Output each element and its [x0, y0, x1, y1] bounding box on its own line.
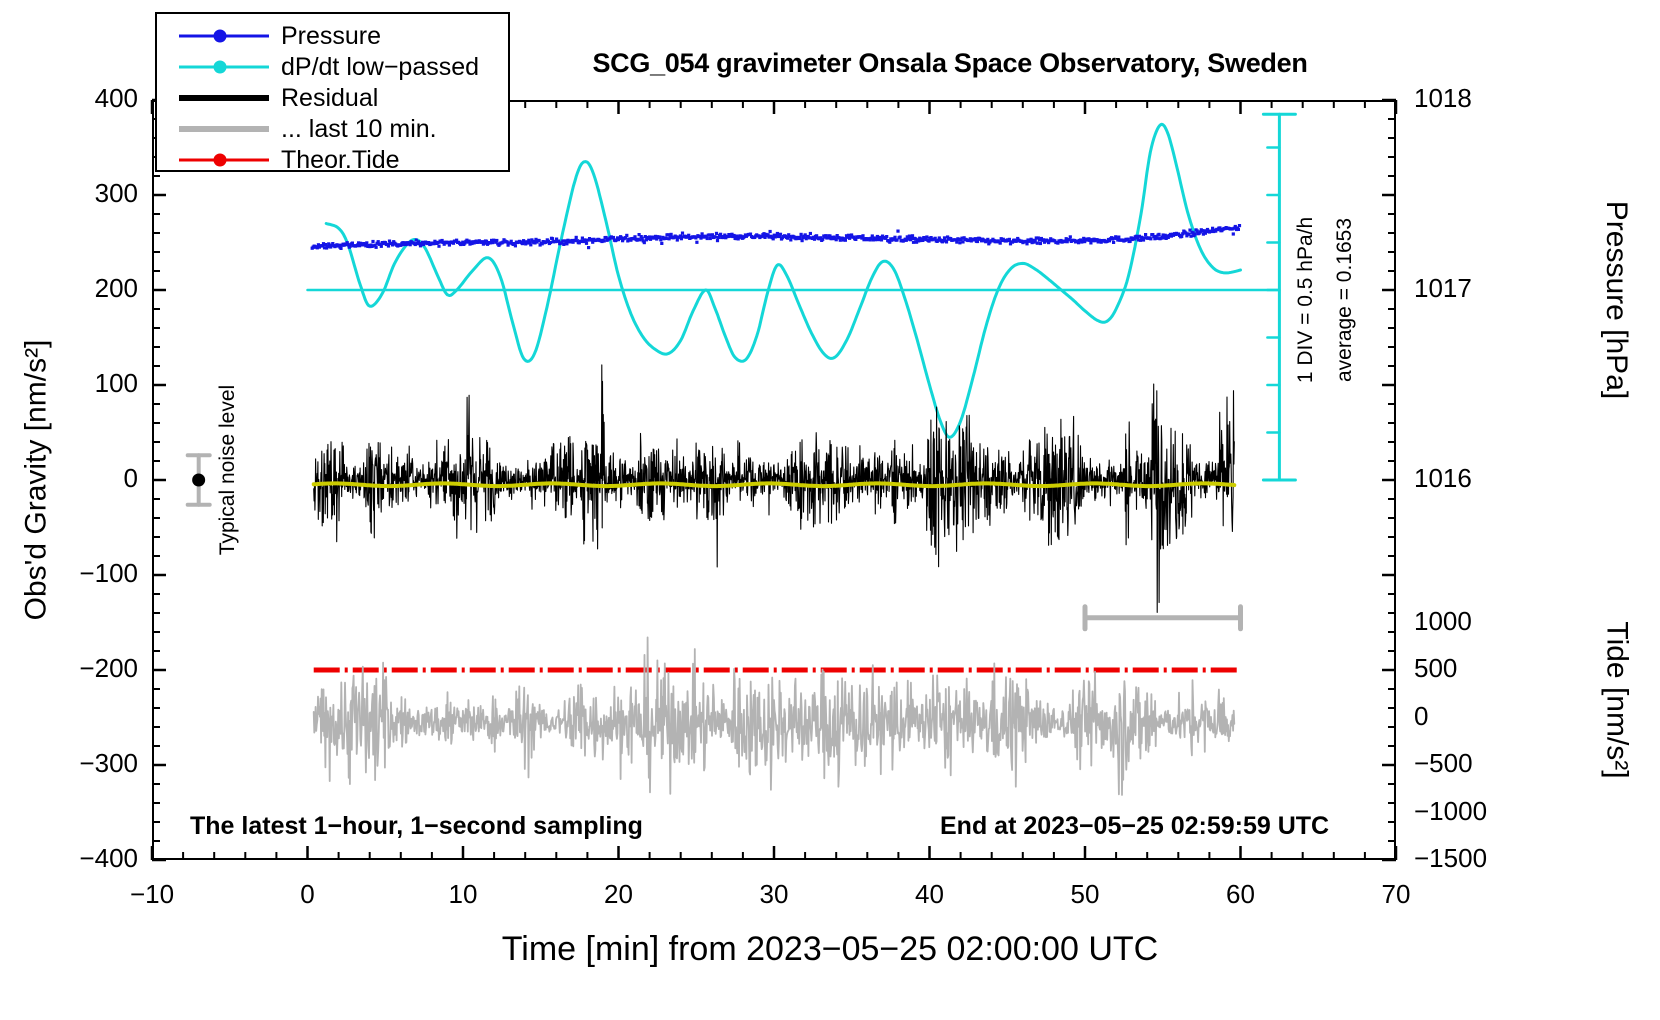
- y-tick-pressure: 1018: [1414, 83, 1472, 114]
- y-tick-left: 0: [18, 463, 138, 494]
- page-title: SCG_054 gravimeter Onsala Space Observat…: [520, 48, 1380, 79]
- y-tick-left: −400: [18, 843, 138, 874]
- y-tick-left: 300: [18, 178, 138, 209]
- y-tick-left: 100: [18, 368, 138, 399]
- y-axis-tide-title: Tide [nm/s²]: [1599, 621, 1633, 778]
- x-tick: 50: [1025, 879, 1145, 910]
- legend-swatch-icon: [179, 145, 269, 175]
- y-tick-tide: 500: [1414, 653, 1457, 684]
- y-tick-left: −300: [18, 748, 138, 779]
- y-tick-pressure: 1016: [1414, 463, 1472, 494]
- x-tick: 30: [714, 879, 834, 910]
- y-tick-left: −100: [18, 558, 138, 589]
- legend-item: Pressure: [157, 21, 508, 51]
- y-tick-tide: −500: [1414, 748, 1473, 779]
- legend-label: ... last 10 min.: [281, 115, 437, 144]
- typical-noise-level-label: Typical noise level: [216, 385, 240, 555]
- x-axis-title: Time [min] from 2023−05−25 02:00:00 UTC: [0, 930, 1660, 969]
- legend: PressuredP/dt low−passedResidual... last…: [155, 12, 510, 172]
- legend-swatch-icon: [179, 114, 269, 144]
- sampling-note-label: The latest 1−hour, 1−second sampling: [190, 812, 643, 841]
- scale-division-label: 1 DIV = 0.5 hPa/h: [1294, 217, 1318, 383]
- legend-swatch-icon: [179, 52, 269, 82]
- legend-swatch-icon: [179, 83, 269, 113]
- y-tick-left: 400: [18, 83, 138, 114]
- legend-item: Theor.Tide: [157, 145, 508, 175]
- plot-frame: [152, 100, 1396, 860]
- legend-item: dP/dt low−passed: [157, 52, 508, 82]
- legend-item: Residual: [157, 83, 508, 113]
- y-tick-tide: −1000: [1414, 796, 1487, 827]
- x-tick: 40: [870, 879, 990, 910]
- chart-canvas: SCG_054 gravimeter Onsala Space Observat…: [0, 0, 1660, 1020]
- legend-label: Theor.Tide: [281, 146, 400, 175]
- x-tick: 70: [1336, 879, 1456, 910]
- legend-item: ... last 10 min.: [157, 114, 508, 144]
- legend-label: Pressure: [281, 22, 381, 51]
- x-tick: 0: [248, 879, 368, 910]
- y-tick-tide: −1500: [1414, 843, 1487, 874]
- legend-swatch-icon: [179, 21, 269, 51]
- y-tick-left: −200: [18, 653, 138, 684]
- y-tick-tide: 0: [1414, 701, 1428, 732]
- legend-label: dP/dt low−passed: [281, 53, 479, 82]
- y-tick-tide: 1000: [1414, 606, 1472, 637]
- y-tick-pressure: 1017: [1414, 273, 1472, 304]
- legend-label: Residual: [281, 84, 378, 113]
- dpdt-average-label: average = 0.1653: [1333, 218, 1357, 382]
- x-tick: 10: [403, 879, 523, 910]
- y-tick-left: 200: [18, 273, 138, 304]
- x-tick: −10: [92, 879, 212, 910]
- x-tick: 60: [1181, 879, 1301, 910]
- x-tick: 20: [559, 879, 679, 910]
- y-axis-pressure-title: Pressure [hPa]: [1599, 201, 1633, 399]
- end-time-label: End at 2023−05−25 02:59:59 UTC: [940, 812, 1329, 841]
